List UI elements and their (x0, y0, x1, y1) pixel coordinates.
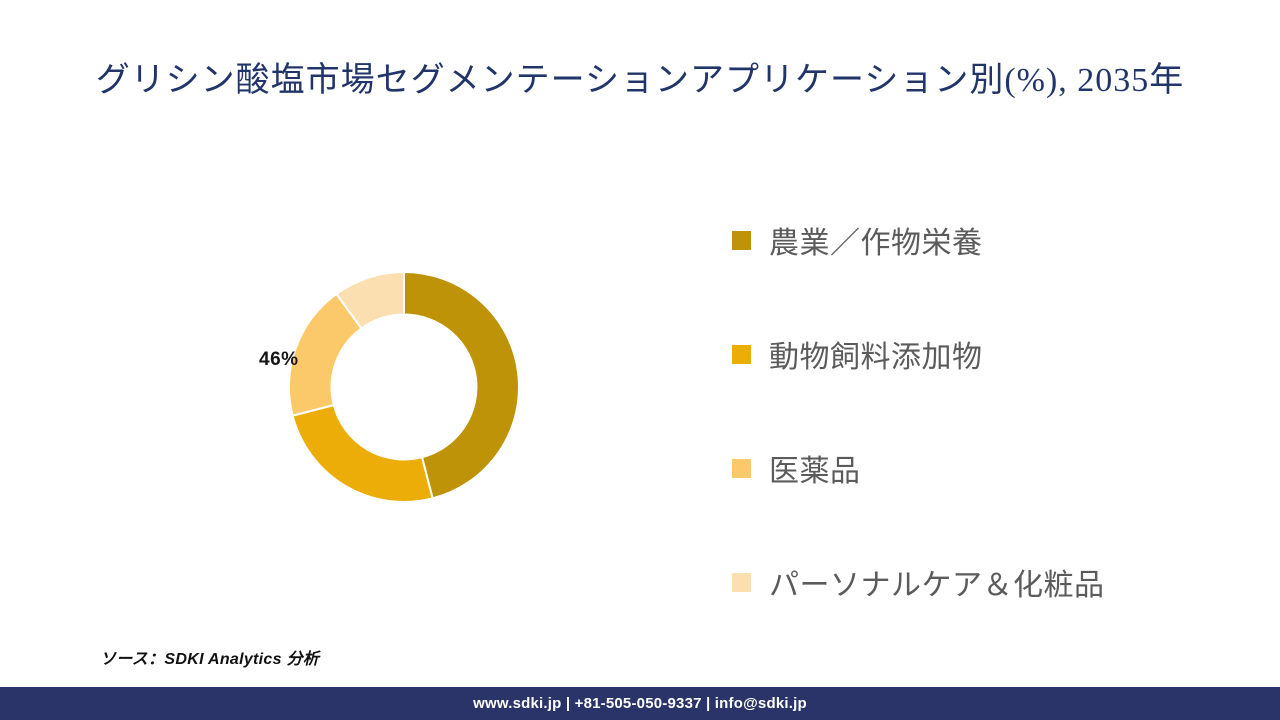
donut-chart-svg (289, 272, 519, 502)
chart-legend: 農業／作物栄養 動物飼料添加物 医薬品 パーソナルケア＆化粧品 (732, 183, 1232, 639)
legend-swatch-icon (732, 231, 751, 250)
donut-chart (289, 272, 519, 502)
legend-swatch-icon (732, 573, 751, 592)
footer-bar: www.sdki.jp | +81-505-050-9337 | info@sd… (0, 687, 1280, 720)
footer-contact-text: www.sdki.jp | +81-505-050-9337 | info@sd… (473, 695, 807, 712)
legend-swatch-icon (732, 459, 751, 478)
source-note: ソース：SDKI Analytics 分析 (100, 645, 319, 669)
legend-item-animal-feed[interactable]: 動物飼料添加物 (732, 297, 1232, 411)
legend-item-pharmaceutical[interactable]: 医薬品 (732, 411, 1232, 525)
legend-item-personal-care[interactable]: パーソナルケア＆化粧品 (732, 525, 1232, 639)
donut-slice[interactable] (293, 405, 433, 502)
legend-item-label: パーソナルケア＆化粧品 (769, 560, 1105, 604)
donut-slice-group (289, 272, 519, 502)
legend-item-label: 農業／作物栄養 (769, 218, 983, 262)
legend-item-label: 動物飼料添加物 (769, 332, 983, 376)
legend-swatch-icon (732, 345, 751, 364)
page-title: グリシン酸塩市場セグメンテーションアプリケーション別(%), 2035年 (0, 52, 1280, 101)
legend-item-agriculture[interactable]: 農業／作物栄養 (732, 183, 1232, 297)
slice-data-label-agriculture: 46% (259, 349, 299, 371)
legend-item-label: 医薬品 (769, 446, 861, 490)
